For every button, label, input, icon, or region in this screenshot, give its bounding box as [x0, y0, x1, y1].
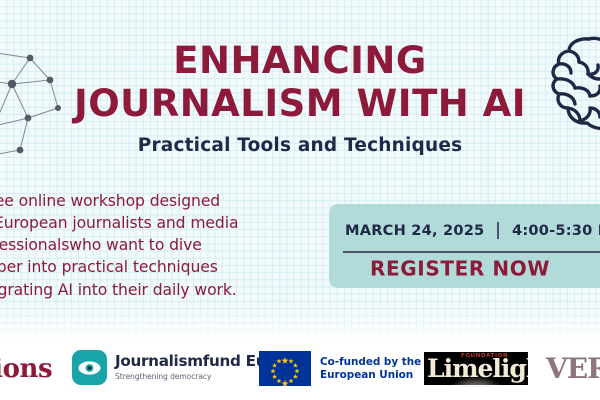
eye-icon	[72, 350, 107, 385]
register-now-button[interactable]: REGISTER NOW	[329, 256, 591, 281]
headline-block: ENHANCING JOURNALISM WITH AI Practical T…	[0, 40, 600, 156]
description-paragraph: A free online workshop designed for Euro…	[0, 190, 298, 301]
eu-flag-icon	[259, 351, 311, 386]
editions-logo: itions	[0, 354, 52, 384]
limelight-wordmark: Limelight	[427, 355, 528, 383]
european-union-logo: Co-funded by the European Union	[259, 351, 421, 386]
page-subtitle: Practical Tools and Techniques	[0, 135, 600, 156]
grid-fade-overlay	[0, 300, 600, 340]
title-line-2: JOURNALISM WITH AI	[0, 83, 600, 126]
poster-canvas: ENHANCING JOURNALISM WITH AI Practical T…	[0, 0, 600, 400]
ver-logo: VER	[546, 352, 600, 385]
event-date: MARCH 24, 2025	[345, 222, 484, 239]
datetime-separator	[497, 222, 499, 239]
event-datetime-row: MARCH 24, 2025 4:00-5:30 PM	[345, 222, 600, 239]
limelight-kicker: FOUNDATION	[461, 353, 508, 359]
eu-caption: Co-funded by the European Union	[320, 356, 421, 381]
event-time: 4:00-5:30 PM	[512, 222, 600, 239]
title-line-1: ENHANCING	[0, 40, 600, 83]
limelight-logo: Limelight FOUNDATION	[424, 352, 528, 385]
panel-divider	[343, 251, 600, 253]
event-info-panel: MARCH 24, 2025 4:00-5:30 PM REGISTER NOW	[329, 204, 600, 288]
